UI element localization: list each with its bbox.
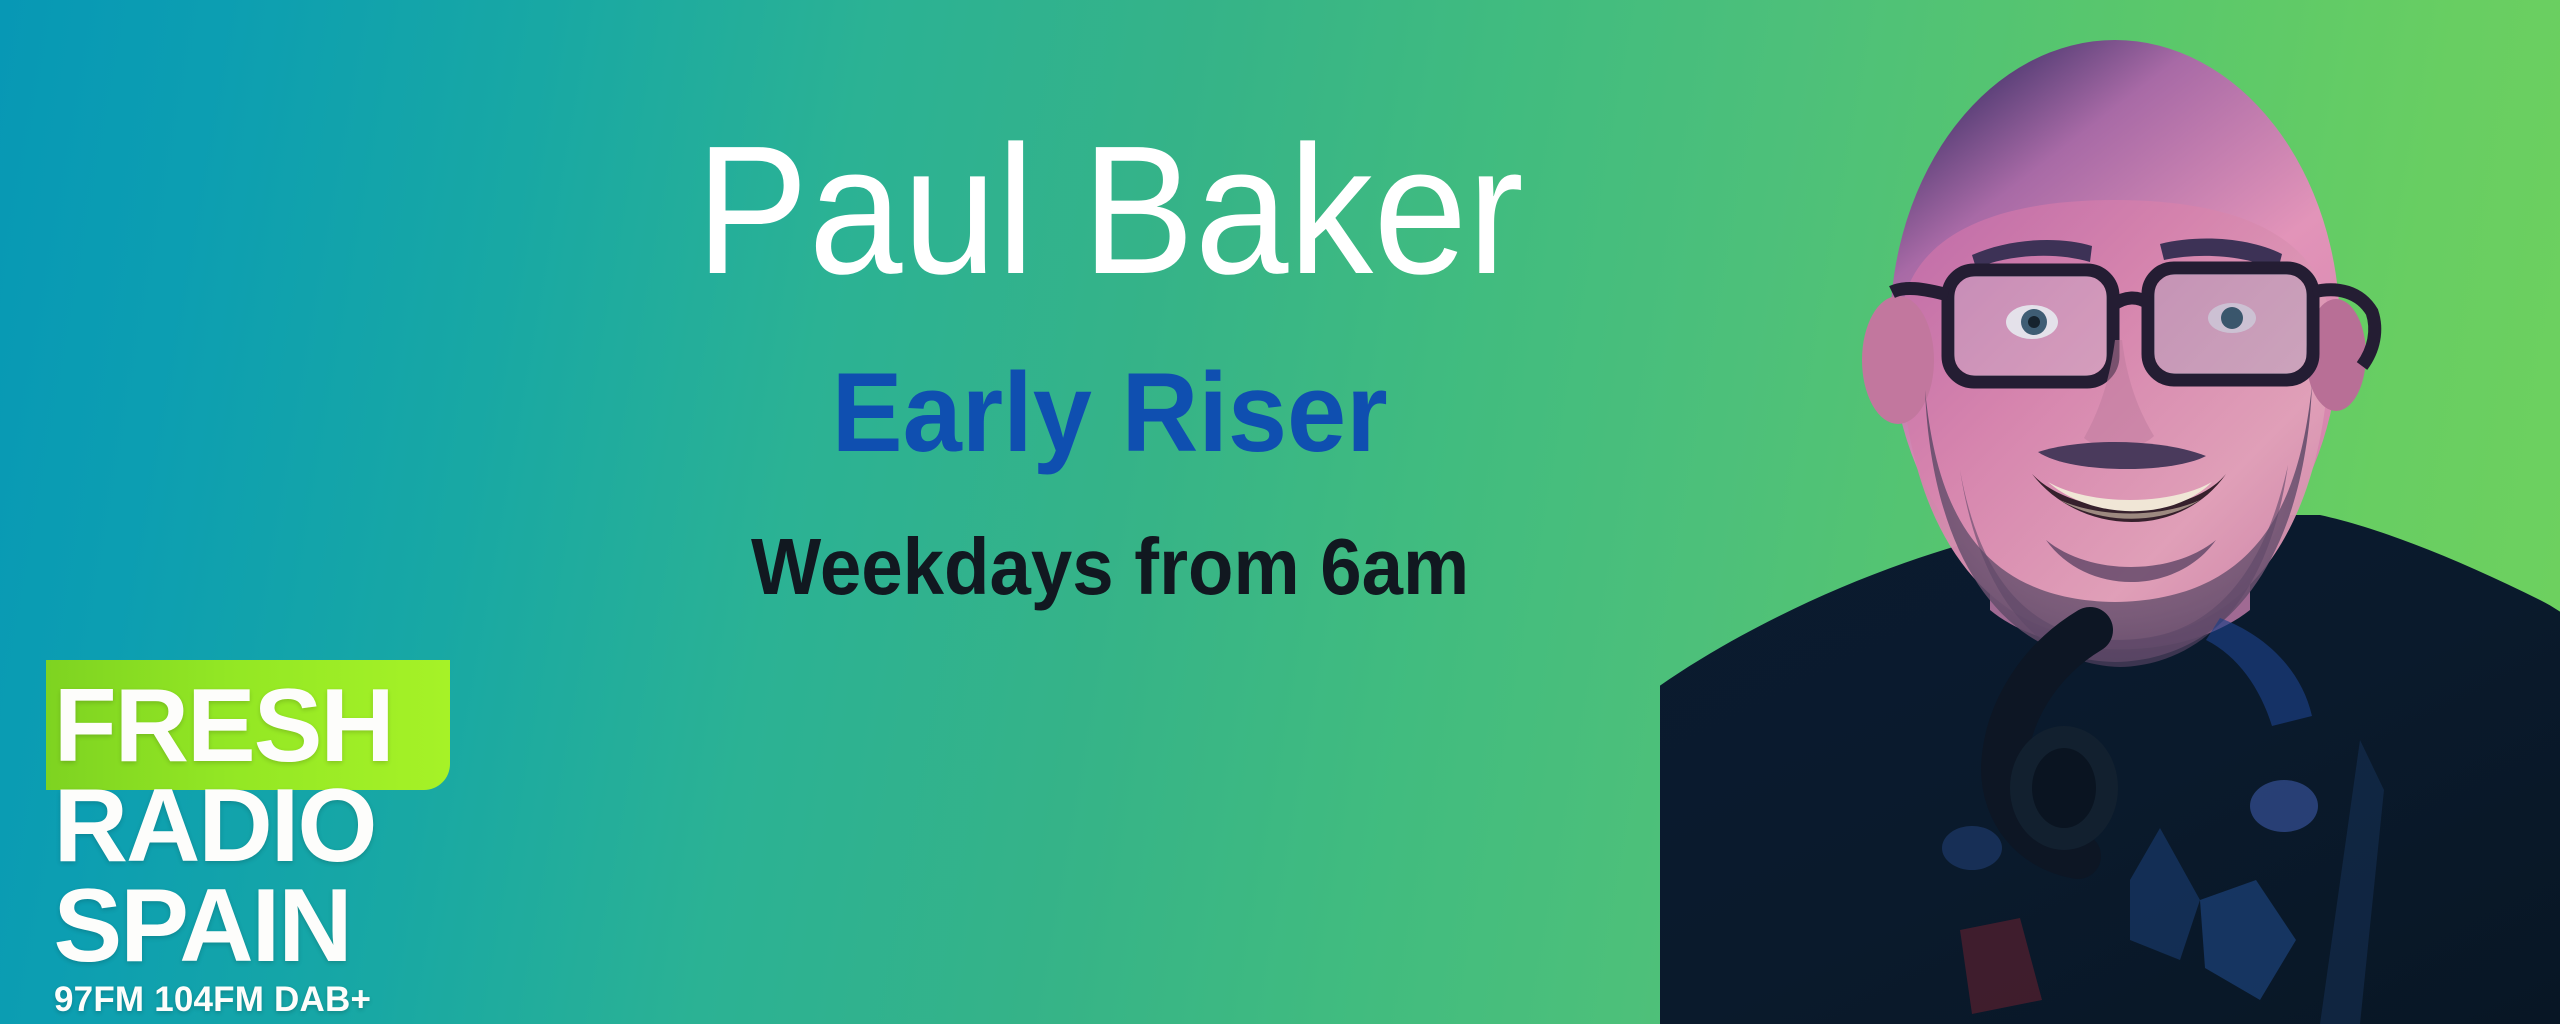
logo-word-radio: RADIO [54,774,376,878]
presenter-promo-banner: Paul Baker Early Riser Weekdays from 6am… [0,0,2560,1024]
presenter-name: Paul Baker [696,118,1524,301]
logo-word-fresh: FRESH [54,674,393,778]
show-schedule: Weekdays from 6am [751,527,1469,607]
logo-frequencies: 97FM 104FM DAB+ [54,982,371,1017]
presenter-text-block: Paul Baker Early Riser Weekdays from 6am [330,0,1890,1024]
presenter-photo [1660,0,2560,1024]
show-title: Early Riser [832,357,1388,469]
logo-word-spain: SPAIN [54,874,351,978]
station-logo[interactable]: FRESH RADIO SPAIN 97FM 104FM DAB+ [46,660,476,1012]
